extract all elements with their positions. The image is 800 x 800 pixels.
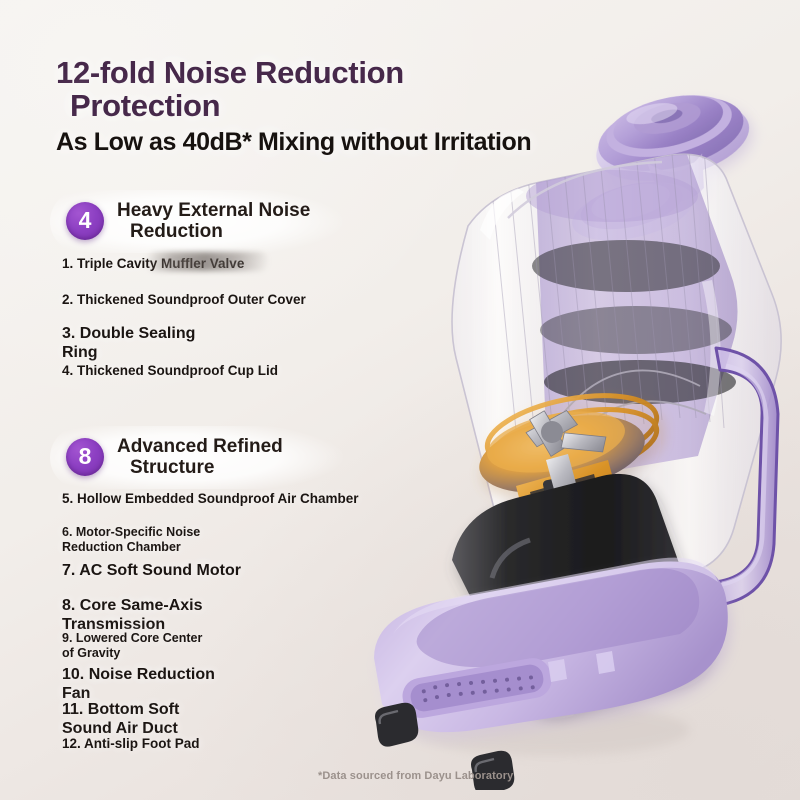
feature-item-8: 8. Core Same-Axis Transmission xyxy=(62,597,203,634)
lavender-base xyxy=(374,558,728,733)
feature-item-11: 11. Bottom Soft Sound Air Duct xyxy=(62,701,179,738)
section-title-line-2: Structure xyxy=(117,457,283,478)
infographic-poster: 12-fold Noise Reduction Protection As Lo… xyxy=(0,0,800,800)
anti-slip-foot xyxy=(375,703,418,747)
section-header: 8 Advanced Refined Structure xyxy=(60,430,350,485)
feature-item-6: 6. Motor-Specific Noise Reduction Chambe… xyxy=(62,525,200,554)
headline-line-2: Protection xyxy=(56,89,656,122)
feature-item-10: 10. Noise Reduction Fan xyxy=(62,666,215,703)
headline-primary: 12-fold Noise Reduction Protection xyxy=(56,56,656,123)
section-badge-count: 8 xyxy=(66,438,104,476)
feature-item-4: 4. Thickened Soundproof Cup Lid xyxy=(62,363,278,379)
section-title-line-1: Advanced Refined xyxy=(117,436,283,457)
section-heavy-external-noise-reduction: 4 Heavy External Noise Reduction xyxy=(60,194,350,249)
feature-item-3: 3. Double Sealing Ring xyxy=(62,325,195,362)
feature-item-1: 1. Triple Cavity Muffler Valve xyxy=(62,256,244,272)
section-badge-count: 4 xyxy=(66,202,104,240)
data-source-footnote: *Data sourced from Dayu Laboratory xyxy=(318,770,513,782)
feature-item-9: 9. Lowered Core Center of Gravity xyxy=(62,631,202,660)
headline-block: 12-fold Noise Reduction Protection As Lo… xyxy=(56,56,656,157)
section-title-line-2: Reduction xyxy=(117,221,310,242)
section-header: 4 Heavy External Noise Reduction xyxy=(60,194,350,249)
headline-line-1: 12-fold Noise Reduction xyxy=(56,55,404,90)
section-title-line-1: Heavy External Noise xyxy=(117,200,310,221)
feature-item-12: 12. Anti-slip Foot Pad xyxy=(62,736,200,752)
section-title: Advanced Refined Structure xyxy=(117,436,283,479)
feature-item-7: 7. AC Soft Sound Motor xyxy=(62,562,241,581)
section-title: Heavy External Noise Reduction xyxy=(117,200,310,243)
headline-subline: As Low as 40dB* Mixing without Irritatio… xyxy=(56,128,656,157)
section-advanced-refined-structure: 8 Advanced Refined Structure xyxy=(60,430,350,485)
feature-item-5: 5. Hollow Embedded Soundproof Air Chambe… xyxy=(62,491,359,507)
feature-item-2: 2. Thickened Soundproof Outer Cover xyxy=(62,292,306,308)
